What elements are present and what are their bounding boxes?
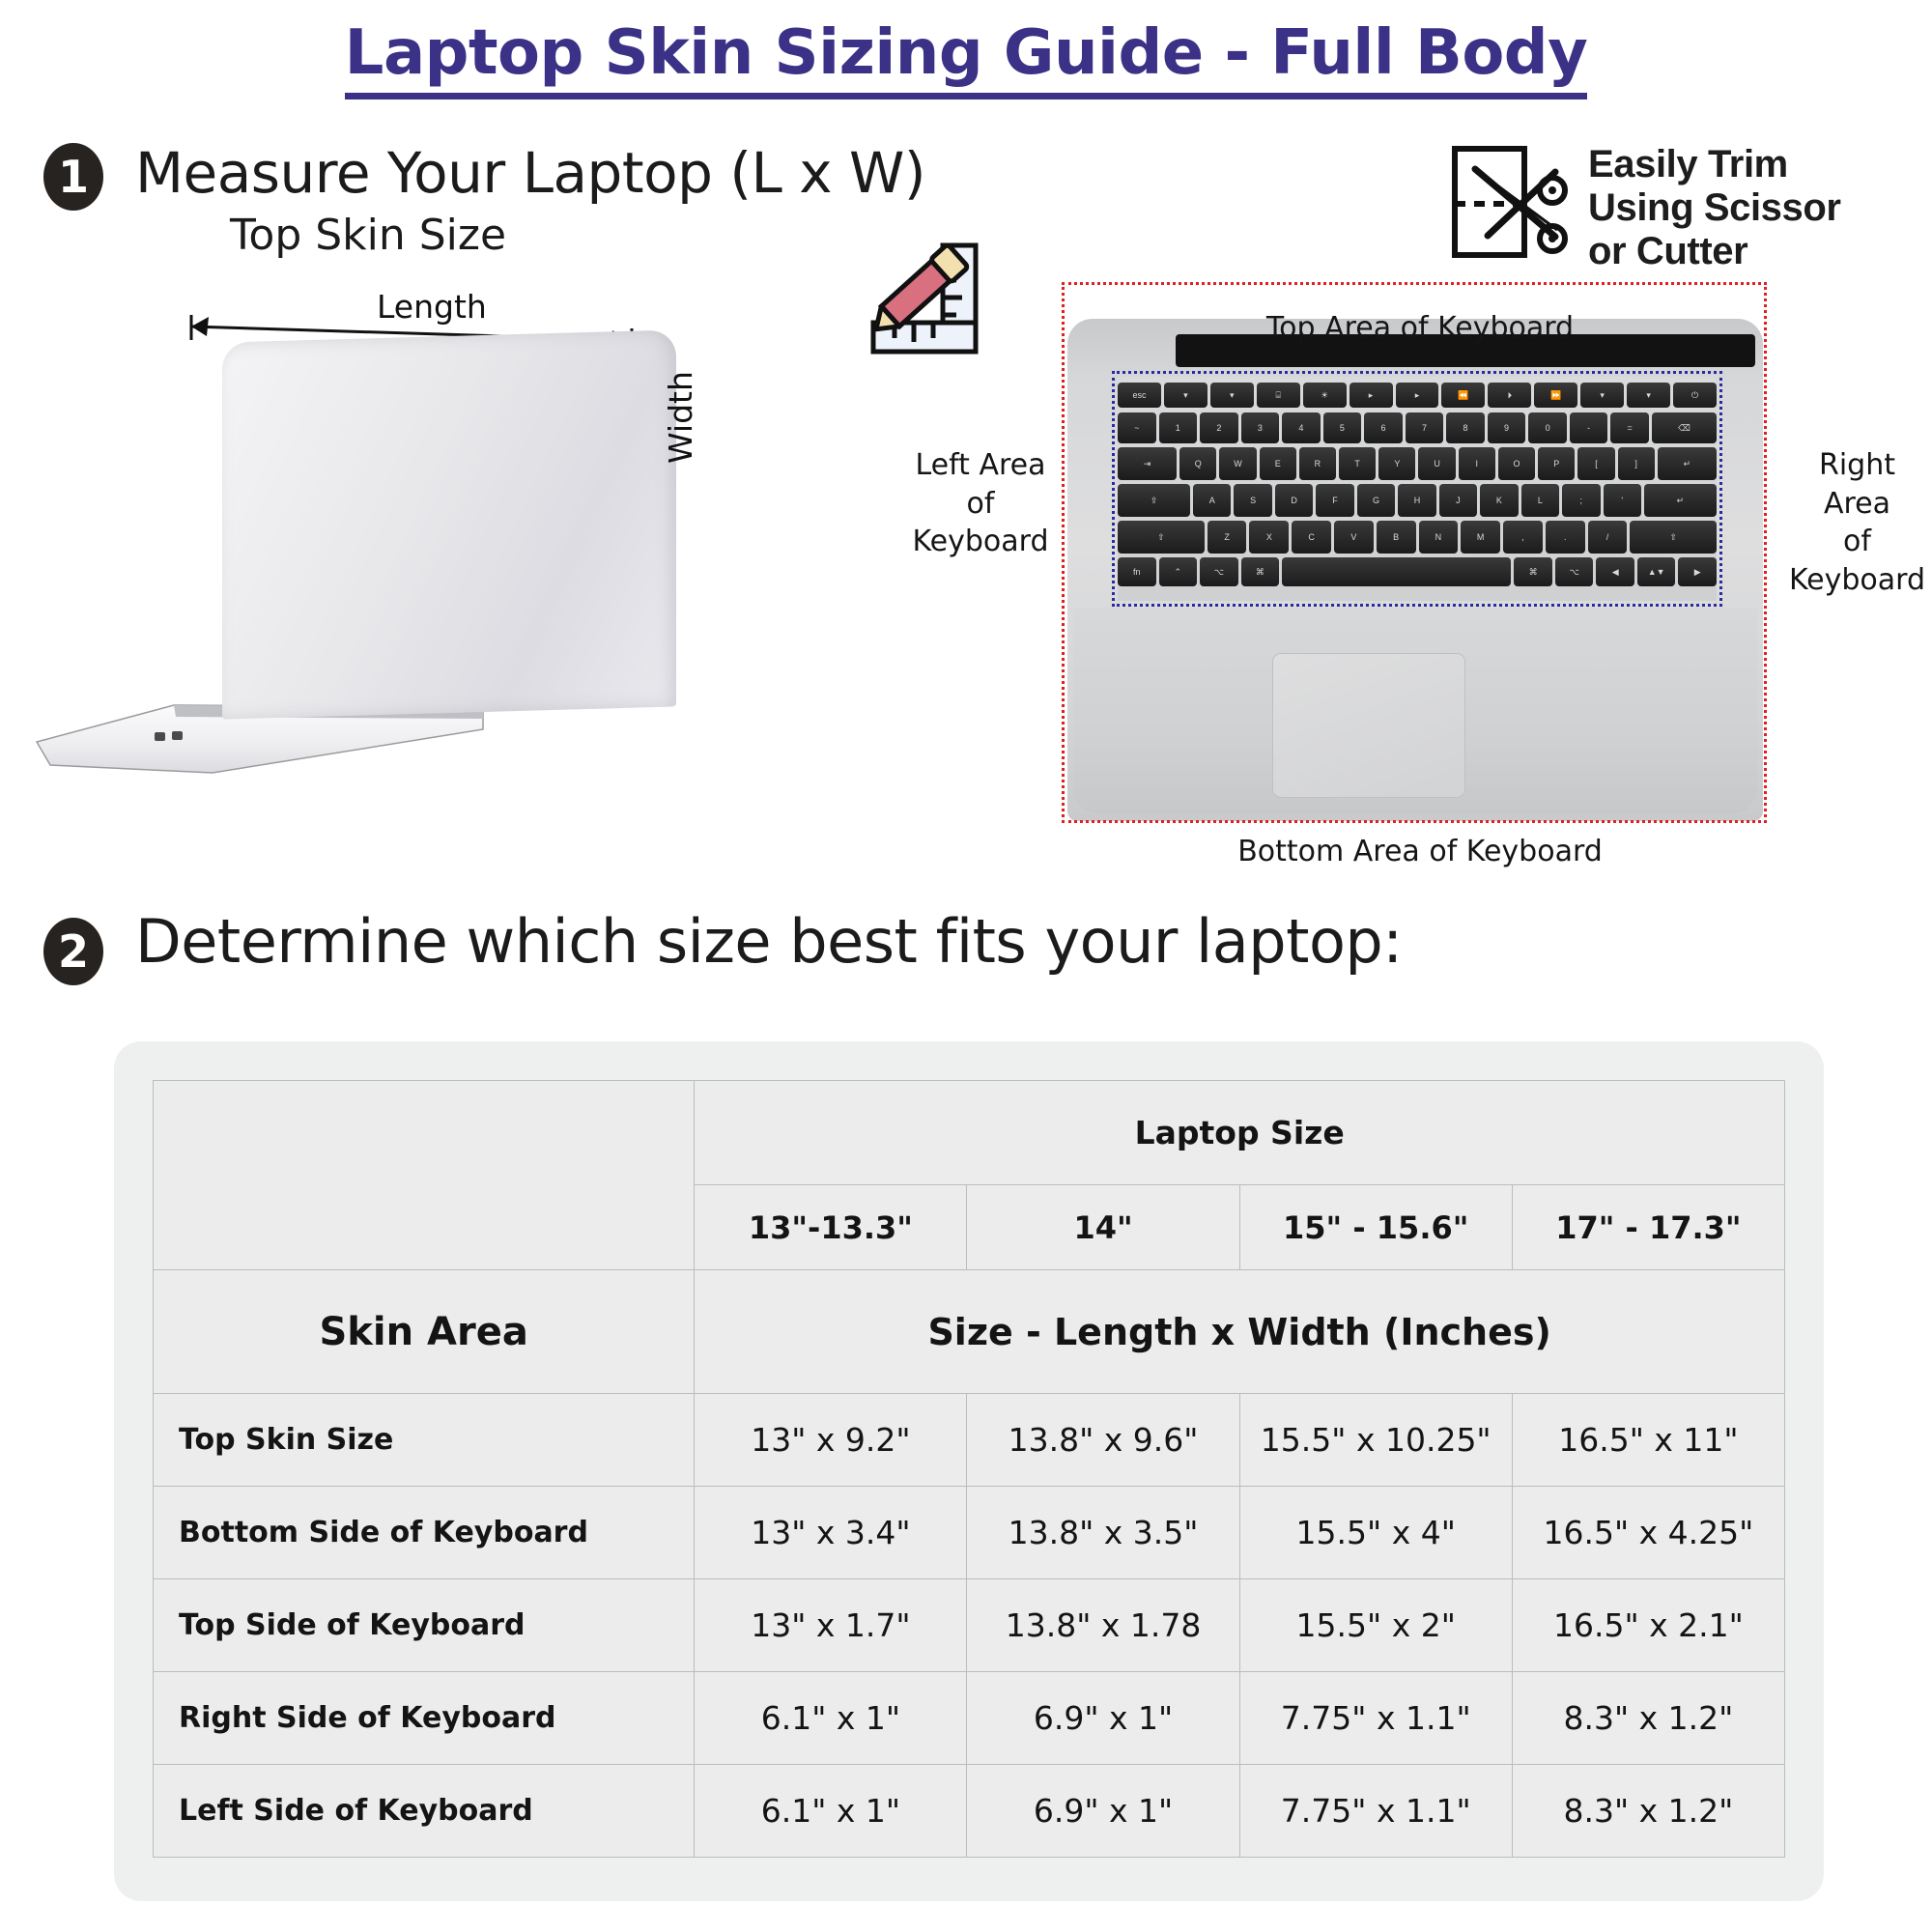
cell-top-skin-13: 13" x 9.2" [695,1394,967,1487]
cell-right-side-13: 6.1" x 1" [695,1672,967,1765]
scissors-cut-icon [1449,143,1571,261]
label-left-line-3: Keyboard [898,523,1063,561]
label-left-line-2: of [898,485,1063,524]
step-2-badge: 2 [43,918,103,985]
inner-keyboard-boundary [1112,371,1722,607]
trim-line-2: Using Scissor [1588,186,1841,230]
row-label-top-side: Top Side of Keyboard [154,1579,695,1672]
cell-left-side-13: 6.1" x 1" [695,1765,967,1858]
header-size-14: 14" [967,1185,1239,1270]
cell-top-side-17: 16.5" x 2.1" [1512,1579,1784,1672]
table-row: Right Side of Keyboard 6.1" x 1" 6.9" x … [154,1672,1785,1765]
row-label-left-side: Left Side of Keyboard [154,1765,695,1858]
cell-bottom-side-15: 15.5" x 4" [1239,1487,1512,1579]
cell-top-side-15: 15.5" x 2" [1239,1579,1512,1672]
label-left-area-of-keyboard: Left Area of Keyboard [898,446,1063,561]
header-size-13: 13"-13.3" [695,1185,967,1270]
header-size-length-width: Size - Length x Width (Inches) [695,1270,1785,1394]
header-skin-area: Skin Area [154,1270,695,1394]
step-2-heading: Determine which size best fits your lapt… [135,906,1403,977]
row-label-bottom-side: Bottom Side of Keyboard [154,1487,695,1579]
cell-bottom-side-13: 13" x 3.4" [695,1487,967,1579]
label-top-area-of-keyboard: Top Area of Keyboard [1207,309,1633,348]
infographic-page: Laptop Skin Sizing Guide - Full Body 1 M… [0,0,1932,1932]
header-size-15: 15" - 15.6" [1239,1185,1512,1270]
laptop-lid-figure: Length Width [29,290,879,831]
label-bottom-area-of-keyboard: Bottom Area of Keyboard [1188,833,1652,871]
label-right-line-3: Keyboard [1782,561,1932,600]
cell-left-side-17: 8.3" x 1.2" [1512,1765,1784,1858]
row-label-right-side: Right Side of Keyboard [154,1672,695,1765]
cell-top-skin-15: 15.5" x 10.25" [1239,1394,1512,1487]
cell-right-side-15: 7.75" x 1.1" [1239,1672,1512,1765]
trim-callout: Easily Trim Using Scissor or Cutter [1449,143,1841,272]
step-1-subheading: Top Skin Size [230,211,506,260]
label-right-line-1: Right Area [1782,446,1932,523]
page-title-wrapper: Laptop Skin Sizing Guide - Full Body [0,21,1932,99]
cell-right-side-17: 8.3" x 1.2" [1512,1672,1784,1765]
cell-top-skin-14: 13.8" x 9.6" [967,1394,1239,1487]
keyboard-figure: esc▾▾⌸☀▸▸⏪⏵⏩▾▾⏻~1234567890-=⌫⇥QWERTYUIOP… [1067,319,1763,821]
cell-top-skin-17: 16.5" x 11" [1512,1394,1784,1487]
label-right-line-2: of [1782,523,1932,561]
pencil-ruler-icon [860,241,995,355]
table-row: Top Skin Size 13" x 9.2" 13.8" x 9.6" 15… [154,1394,1785,1487]
cell-left-side-14: 6.9" x 1" [967,1765,1239,1858]
cell-top-side-13: 13" x 1.7" [695,1579,967,1672]
label-left-line-1: Left Area [898,446,1063,485]
size-table: Laptop Size 13"-13.3" 14" 15" - 15.6" 17… [153,1080,1785,1858]
header-size-17: 17" - 17.3" [1512,1185,1784,1270]
cell-left-side-15: 7.75" x 1.1" [1239,1765,1512,1858]
cell-bottom-side-17: 16.5" x 4.25" [1512,1487,1784,1579]
size-table-card: Laptop Size 13"-13.3" 14" 15" - 15.6" 17… [114,1041,1824,1901]
width-label: Width [662,371,699,464]
table-row: Bottom Side of Keyboard 13" x 3.4" 13.8"… [154,1487,1785,1579]
page-title: Laptop Skin Sizing Guide - Full Body [345,21,1588,99]
cell-right-side-14: 6.9" x 1" [967,1672,1239,1765]
cell-top-side-14: 13.8" x 1.78 [967,1579,1239,1672]
step-1-heading: Measure Your Laptop (L x W) [135,140,925,206]
header-laptop-size: Laptop Size [695,1081,1785,1185]
trim-callout-text: Easily Trim Using Scissor or Cutter [1588,143,1841,272]
length-label: Length [377,288,487,326]
table-row: Left Side of Keyboard 6.1" x 1" 6.9" x 1… [154,1765,1785,1858]
laptop-lid [222,329,676,719]
size-table-body: Top Skin Size 13" x 9.2" 13.8" x 9.6" 15… [154,1394,1785,1858]
trim-line-1: Easily Trim [1588,143,1841,186]
cell-bottom-side-14: 13.8" x 3.5" [967,1487,1239,1579]
table-header-row-3: Skin Area Size - Length x Width (Inches) [154,1270,1785,1394]
row-label-top-skin-size: Top Skin Size [154,1394,695,1487]
table-corner-blank [154,1081,695,1270]
size-table-head: Laptop Size 13"-13.3" 14" 15" - 15.6" 17… [154,1081,1785,1394]
step-1-badge: 1 [43,143,103,211]
table-header-row-1: Laptop Size [154,1081,1785,1185]
trim-line-3: or Cutter [1588,230,1841,273]
table-row: Top Side of Keyboard 13" x 1.7" 13.8" x … [154,1579,1785,1672]
label-right-area-of-keyboard: Right Area of Keyboard [1782,446,1932,599]
